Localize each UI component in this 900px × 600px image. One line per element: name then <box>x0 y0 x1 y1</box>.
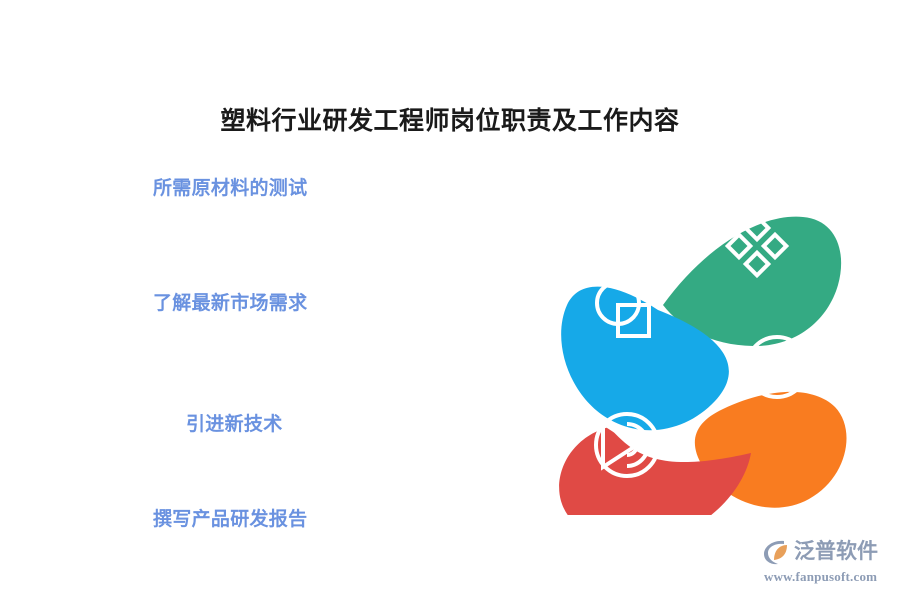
list-item: 撰写产品研发报告 <box>153 507 307 533</box>
watermark-row: 泛普软件 <box>762 536 894 568</box>
list-item: 了解最新市场需求 <box>153 291 307 317</box>
list-item: 引进新技术 <box>186 412 283 438</box>
list-item: 所需原材料的测试 <box>153 176 307 202</box>
watermark-logo: 泛普软件 www.fanpusoft.com <box>762 536 894 588</box>
watermark-url: www.fanpusoft.com <box>764 569 894 585</box>
pinwheel-graphic <box>555 195 855 515</box>
user-avatar-icon <box>747 337 807 397</box>
watermark-brand: 泛普软件 <box>794 539 878 565</box>
fanpu-logo-icon <box>762 537 792 567</box>
page-title: 塑料行业研发工程师岗位职责及工作内容 <box>0 104 900 138</box>
slide-canvas: 塑料行业研发工程师岗位职责及工作内容 所需原材料的测试 了解最新市场需求 引进新… <box>0 0 900 600</box>
